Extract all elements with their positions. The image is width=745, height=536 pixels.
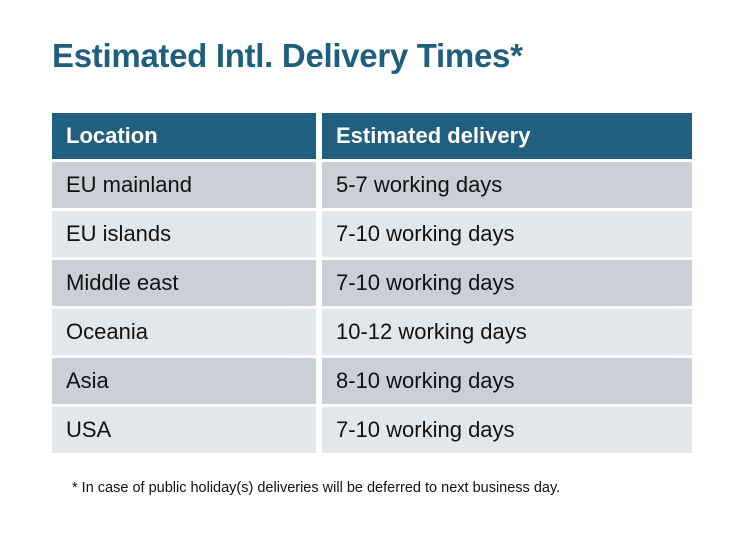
table-row: Middle east 7-10 working days (52, 260, 692, 306)
table-row: Asia 8-10 working days (52, 358, 692, 404)
page-title: Estimated Intl. Delivery Times* (52, 36, 523, 76)
table-header-row: Location Estimated delivery (52, 113, 692, 159)
cell-estimated-delivery: 7-10 working days (322, 407, 692, 453)
cell-location: EU islands (52, 211, 316, 257)
table-row: EU mainland 5-7 working days (52, 162, 692, 208)
cell-location: Oceania (52, 309, 316, 355)
cell-estimated-delivery: 7-10 working days (322, 260, 692, 306)
delivery-times-page: Estimated Intl. Delivery Times* Location… (0, 0, 745, 536)
cell-estimated-delivery: 8-10 working days (322, 358, 692, 404)
cell-estimated-delivery: 5-7 working days (322, 162, 692, 208)
cell-location: Asia (52, 358, 316, 404)
cell-location: Middle east (52, 260, 316, 306)
column-header-location: Location (52, 113, 316, 159)
table-row: EU islands 7-10 working days (52, 211, 692, 257)
cell-location: EU mainland (52, 162, 316, 208)
table-row: Oceania 10-12 working days (52, 309, 692, 355)
cell-estimated-delivery: 10-12 working days (322, 309, 692, 355)
table-row: USA 7-10 working days (52, 407, 692, 453)
delivery-times-table: Location Estimated delivery EU mainland … (52, 113, 692, 453)
column-header-estimated-delivery: Estimated delivery (322, 113, 692, 159)
footnote: * In case of public holiday(s) deliverie… (72, 480, 560, 496)
cell-location: USA (52, 407, 316, 453)
cell-estimated-delivery: 7-10 working days (322, 211, 692, 257)
